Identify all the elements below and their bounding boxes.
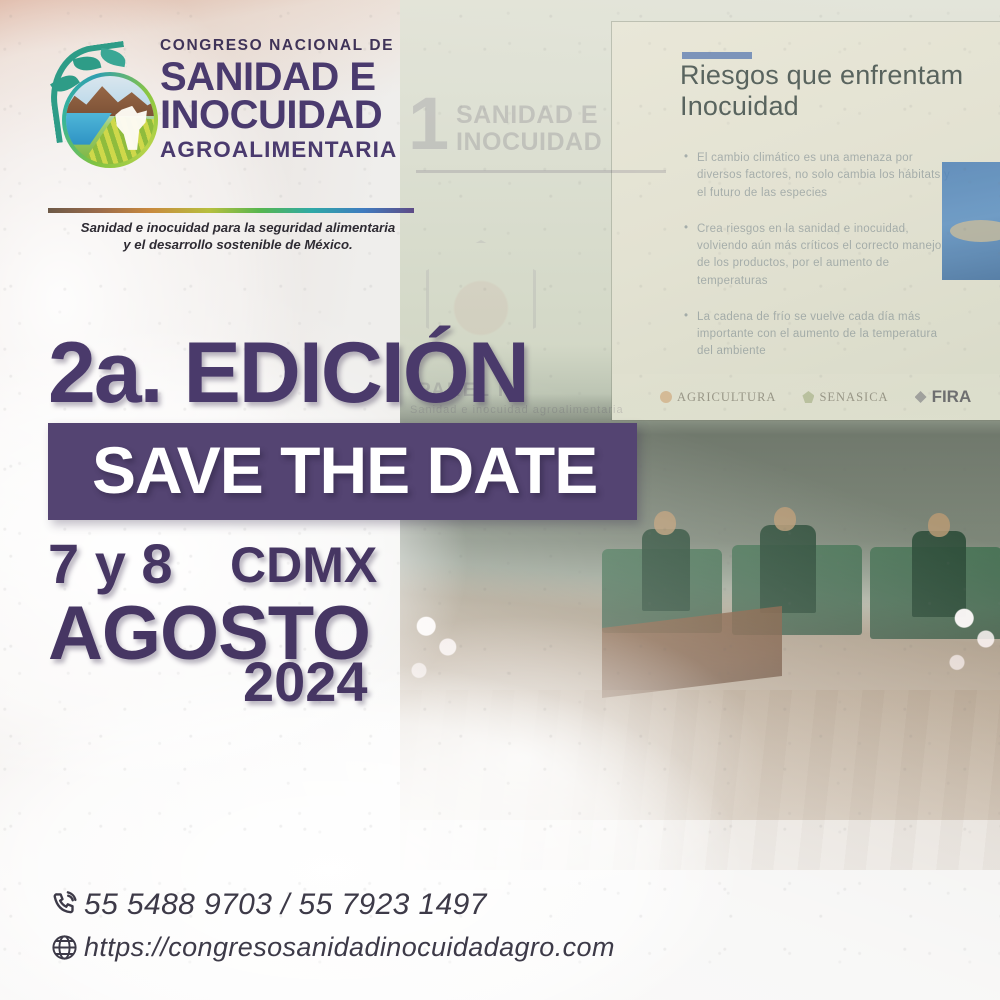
logo-gradient-divider — [48, 208, 414, 213]
slide-sponsor-logos: AGRICULTURA SENASICA FIRA — [612, 374, 1000, 420]
contact-phone-row: 55 5488 9703 / 55 7923 1497 — [44, 884, 615, 926]
poster-canvas: Riesgos que enfrentam Inocuidad El cambi… — [0, 0, 1000, 1000]
panelist-left-head — [654, 511, 676, 535]
panelist-left — [642, 529, 690, 611]
slide-accent-bar — [682, 52, 752, 59]
watermark-rule — [416, 170, 666, 173]
save-the-date-banner: SAVE THE DATE — [48, 423, 637, 520]
slide-bullet: La cadena de frío se vuelve cada día más… — [684, 309, 952, 361]
event-days: 7 y 8 — [48, 536, 173, 592]
logo-title-line-1: SANIDAD E — [160, 58, 460, 97]
watermark-title-line-1: SANIDAD E — [456, 102, 602, 129]
fira-label: FIRA — [932, 387, 972, 407]
fira-logo: FIRA — [915, 387, 972, 407]
senasica-leaf-icon — [802, 391, 814, 403]
logo-tagline: Sanidad e inocuidad para la seguridad al… — [64, 219, 412, 254]
emblem-disc — [62, 72, 158, 168]
panelist-right-head — [928, 513, 950, 537]
logo-tagline-line-1: Sanidad e inocuidad para la seguridad al… — [64, 219, 412, 236]
panelist-center — [760, 525, 816, 613]
orchid-flower-left — [392, 608, 482, 738]
slide-title: Riesgos que enfrentam Inocuidad — [680, 60, 1000, 123]
contact-block: 55 5488 9703 / 55 7923 1497 https://cong… — [44, 884, 615, 968]
logo-title-line-2: INOCUIDAD — [160, 96, 460, 135]
logo-title-line-3: AGROALIMENTARIA — [160, 137, 460, 162]
phone-icon — [44, 890, 84, 920]
panelist-center-head — [774, 507, 796, 531]
website-url[interactable]: https://congresosanidadinocuidadagro.com — [84, 932, 615, 963]
slide-title-line-2: Inocuidad — [680, 91, 1000, 122]
congress-emblem-icon — [48, 46, 168, 166]
contact-website-row: https://congresosanidadinocuidadagro.com — [44, 926, 615, 968]
fira-mark-icon — [915, 391, 927, 403]
orchid-flower-right — [930, 600, 1000, 730]
watermark-title-line-2: INOCUIDAD — [456, 129, 602, 156]
stage-floor — [400, 690, 1000, 870]
event-city: CDMX — [230, 540, 377, 590]
logo-tagline-line-2: y el desarrollo sostenible de México. — [64, 236, 412, 253]
emblem-landscape — [66, 76, 154, 164]
senasica-logo: SENASICA — [802, 390, 888, 405]
event-year: 2024 — [243, 654, 368, 710]
watermark-title: SANIDAD E INOCUIDAD — [456, 102, 602, 155]
emblem-mountain-icon — [66, 80, 154, 117]
save-the-date-text: SAVE THE DATE — [92, 437, 597, 503]
logo-wordmark: CONGRESO NACIONAL DE SANIDAD E INOCUIDAD… — [160, 38, 460, 162]
slide-image-thumbnail — [942, 162, 1000, 280]
logo-kicker: CONGRESO NACIONAL DE — [160, 38, 460, 54]
slide-bullet: El cambio climático es una amenaza por d… — [684, 150, 952, 202]
slide-title-line-1: Riesgos que enfrentam — [680, 60, 1000, 91]
phone-number[interactable]: 55 5488 9703 / 55 7923 1497 — [84, 888, 487, 922]
agricultura-label: AGRICULTURA — [677, 390, 776, 405]
agricultura-logo: AGRICULTURA — [660, 390, 776, 405]
agricultura-mark-icon — [660, 391, 672, 403]
slide-bullet: Crea riesgos en la sanidad e inocuidad, … — [684, 221, 952, 290]
globe-icon — [44, 933, 84, 962]
senasica-label: SENASICA — [819, 390, 888, 405]
slide-bullet-list: El cambio climático es una amenaza por d… — [684, 150, 952, 380]
edition-headline: 2a. EDICIÓN — [48, 330, 528, 416]
presentation-slide: Riesgos que enfrentam Inocuidad El cambi… — [612, 22, 1000, 420]
